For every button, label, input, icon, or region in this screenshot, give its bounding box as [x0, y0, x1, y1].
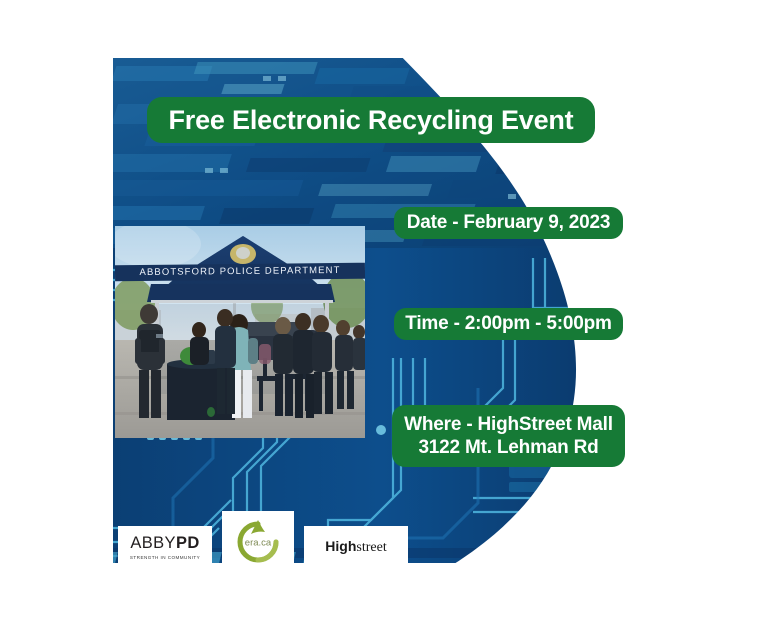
abbypd-word-bold: PD: [176, 534, 200, 552]
highstreet-logo: Highstreet: [304, 526, 408, 568]
abbypd-tagline: STRENGTH IN COMMUNITY: [130, 555, 200, 560]
police-tent-photo-illustration: [115, 226, 365, 438]
highstreet-word-rest: street: [356, 540, 386, 555]
abbypd-word-light: ABBY: [130, 534, 176, 552]
location-line-2: 3122 Mt. Lehman Rd: [418, 436, 598, 459]
event-title-badge: Free Electronic Recycling Event: [147, 97, 595, 143]
tent-caption-text: ABBOTSFORD POLICE DEPARTMENT: [115, 262, 365, 283]
era-ca-label: era.ca: [229, 538, 287, 549]
era-ca-logo: era.ca: [222, 511, 294, 573]
abbypd-logo: ABBYPD STRENGTH IN COMMUNITY: [118, 526, 212, 568]
abbypd-wordmark: ABBYPD: [130, 534, 199, 553]
location-line-1: Where - HighStreet Mall: [404, 413, 613, 436]
poster-canvas: ABBOTSFORD POLICE DEPARTMENT Free Electr…: [0, 0, 768, 644]
highstreet-wordmark: Highstreet: [325, 538, 386, 556]
sponsor-logo-strip: ABBYPD STRENGTH IN COMMUNITY era.ca High…: [118, 521, 408, 573]
event-time-badge: Time - 2:00pm - 5:00pm: [394, 308, 623, 340]
event-photo: ABBOTSFORD POLICE DEPARTMENT: [115, 226, 365, 438]
era-recycle-arrow-icon: era.ca: [229, 516, 287, 568]
highstreet-word-bold: High: [325, 538, 356, 554]
event-location-badge: Where - HighStreet Mall 3122 Mt. Lehman …: [392, 405, 625, 467]
event-date-badge: Date - February 9, 2023: [394, 207, 623, 239]
